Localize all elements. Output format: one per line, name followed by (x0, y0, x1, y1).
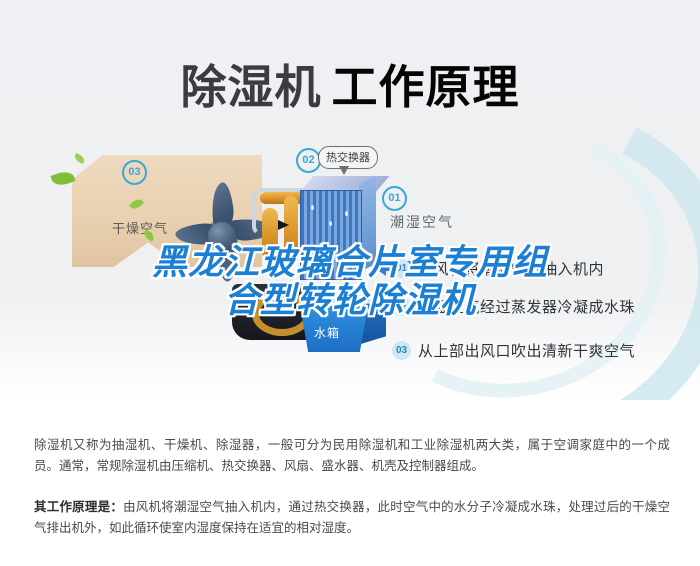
page-title: 除湿机工作原理 (0, 59, 700, 115)
condensation-droplet (311, 205, 314, 210)
step-item: 01 由风机将潮湿空气抽入机内 (392, 258, 604, 279)
badge-03-illustration: 03 (122, 160, 147, 185)
water-tank-icon: 水箱 (300, 292, 386, 354)
badge-02-illustration: 02 (296, 148, 321, 173)
step-item: 02 潮湿空气经过蒸发器冷凝成水珠 (392, 296, 635, 317)
page-title-part1: 除湿机 (181, 61, 322, 113)
step-number: 02 (392, 297, 411, 316)
description-area: 除湿机又称为抽湿机、干燥机、除湿器，一般可分为民用除湿机和工业除湿机两大类，属于… (0, 400, 700, 566)
step-text: 从上部出风口吹出清新干爽空气 (418, 340, 635, 361)
step-text: 潮湿空气经过蒸发器冷凝成水珠 (418, 296, 635, 317)
leaf-icon (50, 169, 75, 189)
heat-exchanger-icon (300, 176, 376, 280)
callout-tail (339, 166, 349, 175)
fan-hub (208, 222, 236, 250)
step-number: 03 (392, 341, 411, 360)
illustration-area: 除湿机工作原理 干燥空气 (0, 0, 700, 400)
condensation-droplet (345, 211, 348, 216)
condensation-droplet (341, 257, 344, 262)
condensation-droplet (319, 243, 322, 248)
paragraph-1: 除湿机又称为抽湿机、干燥机、除湿器，一般可分为民用除湿机和工业除湿机两大类，属于… (34, 435, 670, 477)
step-number: 01 (392, 259, 411, 278)
badge-01-illustration: 01 (382, 186, 407, 211)
dry-air-label: 干燥空气 (112, 218, 168, 237)
step-text: 由风机将潮湿空气抽入机内 (418, 258, 604, 279)
paragraph-2-lead: 其工作原理是： (34, 500, 123, 514)
heat-exchanger-fins (300, 190, 362, 280)
flow-arrow-right-icon (278, 220, 289, 230)
step-item: 03 从上部出风口吹出清新干爽空气 (392, 340, 635, 361)
water-tank-label: 水箱 (314, 324, 340, 341)
infographic-page: 除湿机工作原理 干燥空气 (0, 0, 700, 566)
condensation-droplet (329, 221, 332, 226)
leaf-icon (73, 153, 86, 164)
paragraph-2: 其工作原理是：由风机将潮湿空气抽入机内，通过热交换器，此时空气中的水分子冷凝成水… (34, 497, 670, 539)
page-title-part2: 工作原理 (332, 61, 520, 113)
flow-arrow-up-icon (268, 244, 278, 255)
copper-tube (284, 196, 298, 266)
paragraph-2-rest: 由风机将潮湿空气抽入机内，通过热交换器，此时空气中的水分子冷凝成水珠，处理过后的… (34, 500, 670, 535)
humid-air-label: 潮湿空气 (390, 212, 454, 232)
